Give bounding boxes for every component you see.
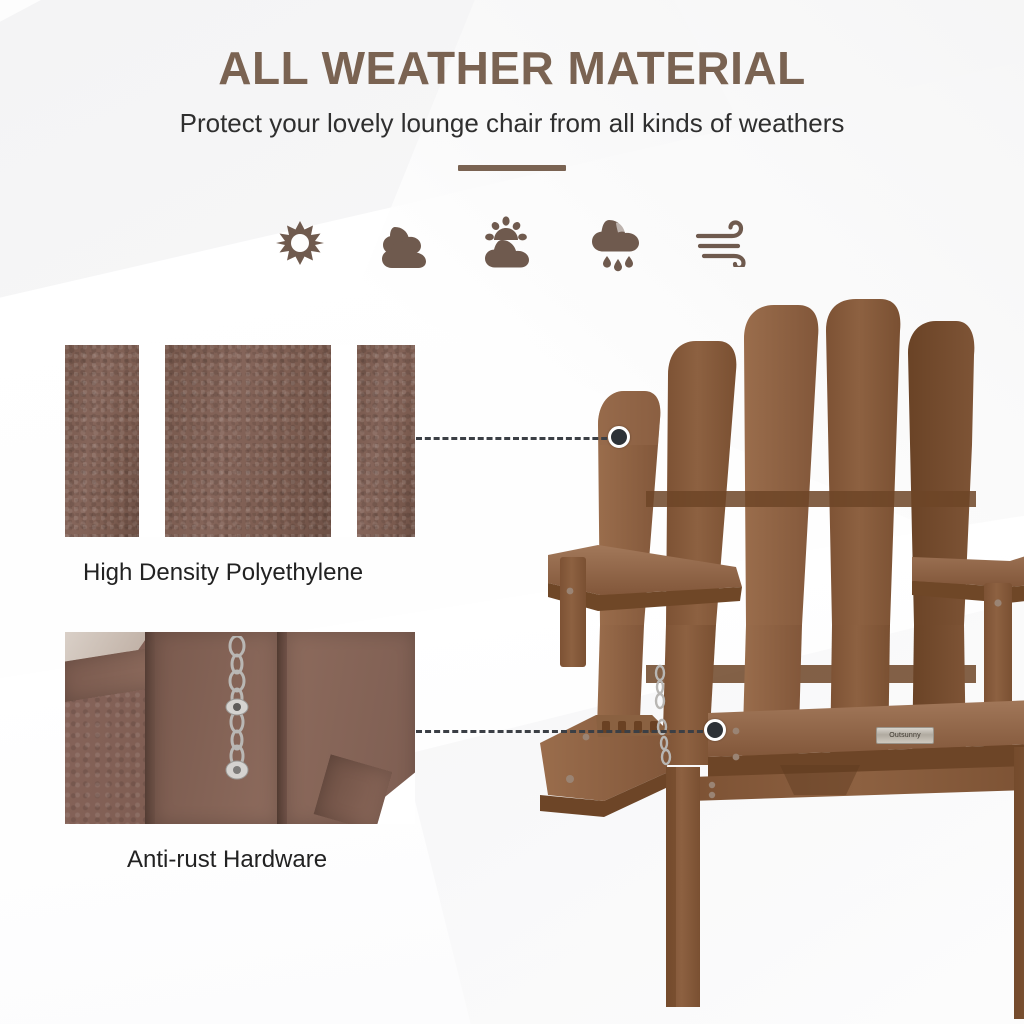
callout-node-hdpe: [608, 426, 630, 448]
connector-line-hdpe: [416, 437, 616, 440]
cloudy-icon: [375, 212, 437, 274]
detail-panel-hdpe: High Density Polyethylene: [65, 345, 415, 587]
hardware-center-slat: [155, 632, 277, 824]
hardware-seam: [145, 632, 155, 824]
hdpe-slat: [65, 345, 139, 537]
wind-icon: [693, 212, 755, 274]
page-title: ALL WEATHER MATERIAL: [0, 44, 1024, 92]
rain-icon: [587, 212, 649, 274]
hdpe-gap: [139, 345, 165, 537]
chair-seat-shadow: [780, 765, 860, 795]
connector-line-hardware: [416, 730, 712, 733]
hardware-image: [65, 632, 415, 824]
weather-icon-row: [0, 212, 1024, 274]
detail-panel-hardware: Anti-rust Hardware: [65, 632, 415, 874]
brand-plate: Outsunny: [876, 727, 934, 744]
partly-sunny-icon: [481, 212, 543, 274]
hdpe-caption: High Density Polyethylene: [65, 559, 415, 587]
product-image-adirondack-chair: [540, 295, 1024, 1024]
chain-icon: [223, 636, 251, 784]
hdpe-texture-image: [65, 345, 415, 537]
brand-plate-text: Outsunny: [889, 732, 921, 739]
callout-node-hardware: [704, 719, 726, 741]
header: ALL WEATHER MATERIAL Protect your lovely…: [0, 44, 1024, 171]
page-subtitle: Protect your lovely lounge chair from al…: [0, 108, 1024, 139]
hardware-seam: [277, 632, 287, 824]
sun-icon: [269, 212, 331, 274]
title-divider: [458, 165, 566, 171]
hdpe-slat: [165, 345, 331, 537]
hardware-caption: Anti-rust Hardware: [65, 846, 415, 874]
hdpe-gap: [331, 345, 357, 537]
hdpe-slat: [357, 345, 415, 537]
